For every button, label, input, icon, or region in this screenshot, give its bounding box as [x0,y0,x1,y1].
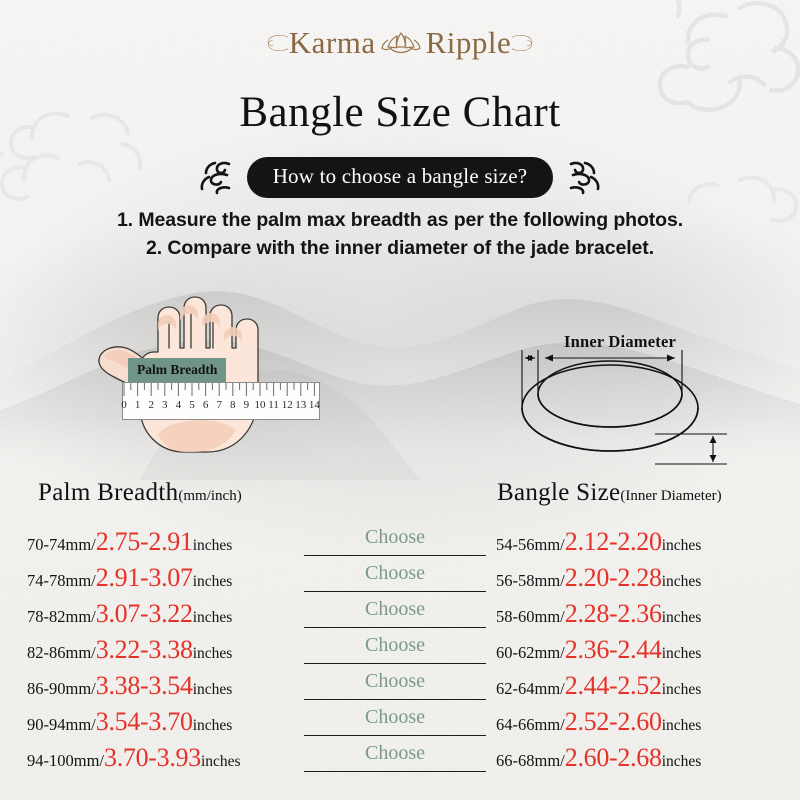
palm-breadth-cell: 82-86mm/3.22-3.38inches [0,635,300,665]
section-left-sub: (mm/inch) [178,488,241,504]
palm-mm-value: 74-78mm/ [27,571,96,590]
choose-label[interactable]: Choose [300,598,490,621]
instruction-step-2: 2. Compare with the inner diameter of th… [0,234,800,262]
palm-mm-value: 70-74mm/ [27,535,96,554]
choose-cell[interactable]: Choose [300,524,490,560]
bangle-inch-value: 2.44-2.52 [565,671,662,700]
ruler-tick-1: 1 [135,399,141,411]
bangle-unit-label: inches [662,753,702,770]
ruler-tick-9: 9 [244,399,250,411]
bangle-unit-label: inches [662,609,702,626]
brand-word-ripple: Ripple [426,25,512,61]
choose-underline [304,663,486,664]
ruler-tick-10: 10 [255,399,266,411]
bangle-size-cell: 60-62mm/2.36-2.44inches [490,635,800,665]
choose-label[interactable]: Choose [300,742,490,765]
logo-flourish-left-icon [263,20,289,66]
choose-underline [304,771,486,772]
palm-breadth-badge: Palm Breadth [128,358,226,382]
choose-cell[interactable]: Choose [300,704,490,740]
bangle-size-cell: 64-66mm/2.52-2.60inches [490,707,800,737]
bangle-mm-value: 58-60mm/ [496,607,565,626]
choose-cell[interactable]: Choose [300,560,490,596]
bangle-inch-value: 2.12-2.20 [565,527,662,556]
palm-unit-label: inches [193,609,233,626]
palm-unit-label: inches [193,573,233,590]
choose-label[interactable]: Choose [300,562,490,585]
bangle-inch-value: 2.20-2.28 [565,563,662,592]
palm-unit-label: inches [193,645,233,662]
palm-unit-label: inches [193,681,233,698]
palm-breadth-badge-label: Palm Breadth [137,362,217,377]
palm-breadth-cell: 74-78mm/2.91-3.07inches [0,563,300,593]
palm-mm-value: 82-86mm/ [27,643,96,662]
how-to-choose-pill: How to choose a bangle size? [247,157,554,198]
bangle-size-cell: 66-68mm/2.60-2.68inches [490,743,800,773]
bangle-inch-value: 2.36-2.44 [565,635,662,664]
choose-cell[interactable]: Choose [300,632,490,668]
bangle-inch-value: 2.60-2.68 [565,743,662,772]
palm-breadth-cell: 90-94mm/3.54-3.70inches [0,707,300,737]
ruler-tick-7: 7 [216,399,222,411]
table-row: 90-94mm/3.54-3.70inchesChoose64-66mm/2.5… [0,704,800,740]
section-right-title: Bangle Size [497,479,620,506]
choose-underline [304,555,486,556]
ruler-tick-14: 14 [309,399,320,411]
lotus-icon [380,26,422,60]
scroll-flourish-left-icon [193,155,237,199]
size-chart-page: Karma Ripple Karma Ripple Bangle Size Ch… [0,0,800,800]
bangle-mm-value: 64-66mm/ [496,715,565,734]
bangle-unit-label: inches [662,681,702,698]
bangle-mm-value: 62-64mm/ [496,679,565,698]
section-left-title: Palm Breadth [38,479,178,506]
size-table: 70-74mm/2.75-2.91inchesChoose54-56mm/2.1… [0,524,800,776]
bangle-size-cell: 54-56mm/2.12-2.20inches [490,527,800,557]
table-row: 86-90mm/3.38-3.54inchesChoose62-64mm/2.4… [0,668,800,704]
bangle-size-cell: 62-64mm/2.44-2.52inches [490,671,800,701]
choose-underline [304,591,486,592]
ruler-tick-4: 4 [176,399,182,411]
palm-inch-value: 3.38-3.54 [96,671,193,700]
bangle-unit-label: inches [662,537,702,554]
palm-inch-value: 3.54-3.70 [96,707,193,736]
bangle-illustration [505,330,735,470]
palm-mm-value: 94-100mm/ [27,751,104,770]
palm-inch-value: 3.22-3.38 [96,635,193,664]
palm-mm-value: 90-94mm/ [27,715,96,734]
palm-breadth-cell: 70-74mm/2.75-2.91inches [0,527,300,557]
palm-inch-value: 2.91-3.07 [96,563,193,592]
palm-mm-value: 86-90mm/ [27,679,96,698]
brand-word-karma: Karma [289,25,376,61]
choose-label[interactable]: Choose [300,670,490,693]
ruler-numbers: 01234567891011121314 [123,399,319,417]
palm-unit-label: inches [201,753,241,770]
scroll-flourish-right-icon [563,155,607,199]
palm-inch-value: 3.07-3.22 [96,599,193,628]
table-row: 82-86mm/3.22-3.38inchesChoose60-62mm/2.3… [0,632,800,668]
section-header-palm-breadth: Palm Breadth(mm/inch) [38,479,242,507]
palm-breadth-cell: 78-82mm/3.07-3.22inches [0,599,300,629]
palm-inch-value: 3.70-3.93 [104,743,201,772]
palm-unit-label: inches [193,717,233,734]
choose-cell[interactable]: Choose [300,668,490,704]
bangle-size-cell: 56-58mm/2.20-2.28inches [490,563,800,593]
brand-logo: Karma Ripple Karma Ripple [0,20,800,66]
ruler-tick-5: 5 [189,399,195,411]
hand-illustration: Palm Breadth [88,272,358,472]
bangle-unit-label: inches [662,645,702,662]
bangle-mm-value: 56-58mm/ [496,571,565,590]
choose-label[interactable]: Choose [300,526,490,549]
bangle-mm-value: 54-56mm/ [496,535,565,554]
bangle-inch-value: 2.52-2.60 [565,707,662,736]
table-row: 78-82mm/3.07-3.22inchesChoose58-60mm/2.2… [0,596,800,632]
table-row: 94-100mm/3.70-3.93inchesChoose66-68mm/2.… [0,740,800,776]
page-title: Bangle Size Chart [0,88,800,137]
bangle-inch-value: 2.28-2.36 [565,599,662,628]
ruler-tick-11: 11 [268,399,279,411]
choose-cell[interactable]: Choose [300,740,490,776]
table-row: 70-74mm/2.75-2.91inchesChoose54-56mm/2.1… [0,524,800,560]
logo-flourish-right-icon [511,20,537,66]
choose-label[interactable]: Choose [300,706,490,729]
ruler-tick-12: 12 [282,399,293,411]
table-row: 74-78mm/2.91-3.07inchesChoose56-58mm/2.2… [0,560,800,596]
section-right-sub: (Inner Diameter) [620,488,721,504]
palm-mm-value: 78-82mm/ [27,607,96,626]
palm-breadth-cell: 86-90mm/3.38-3.54inches [0,671,300,701]
choose-label[interactable]: Choose [300,634,490,657]
bangle-unit-label: inches [662,573,702,590]
subtitle-row: How to choose a bangle size? [0,155,800,199]
instruction-step-1: 1. Measure the palm max breadth as per t… [0,206,800,234]
ruler-tick-13: 13 [295,399,306,411]
choose-cell[interactable]: Choose [300,596,490,632]
bangle-size-cell: 58-60mm/2.28-2.36inches [490,599,800,629]
ruler-tick-0: 0 [121,399,127,411]
ruler: 01234567891011121314 [122,382,320,420]
ruler-tick-8: 8 [230,399,236,411]
palm-breadth-cell: 94-100mm/3.70-3.93inches [0,743,300,773]
bangle-mm-value: 60-62mm/ [496,643,565,662]
palm-inch-value: 2.75-2.91 [96,527,193,556]
choose-underline [304,735,486,736]
palm-unit-label: inches [193,537,233,554]
bangle-mm-value: 66-68mm/ [496,751,565,770]
section-header-bangle-size: Bangle Size(Inner Diameter) [497,479,722,507]
ruler-tick-2: 2 [148,399,154,411]
ruler-tick-6: 6 [203,399,209,411]
choose-underline [304,699,486,700]
ruler-tick-3: 3 [162,399,168,411]
choose-underline [304,627,486,628]
instructions: 1. Measure the palm max breadth as per t… [0,206,800,263]
bangle-unit-label: inches [662,717,702,734]
